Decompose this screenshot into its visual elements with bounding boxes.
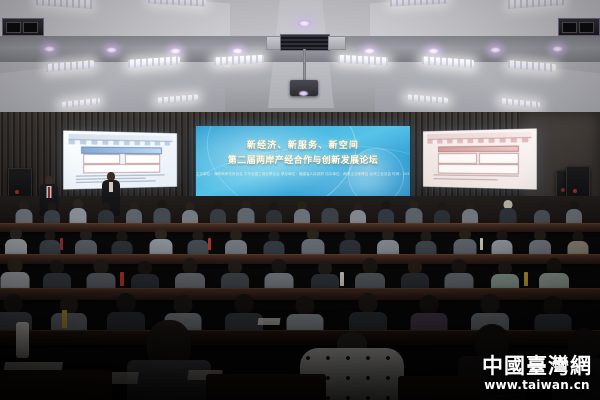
audience-person [154, 200, 170, 224]
seat-back [398, 376, 482, 400]
slide-toolbar [427, 138, 532, 144]
ceiling-light-fixture [214, 55, 264, 66]
slide-box [83, 154, 120, 164]
slide-box [438, 153, 477, 164]
paper-document [258, 318, 281, 325]
downlight [490, 47, 501, 53]
water-bottle [480, 238, 483, 250]
wall-av-unit-right [558, 18, 600, 36]
downlight [44, 46, 55, 52]
water-bottle [340, 272, 344, 286]
ceiling-projector [290, 80, 318, 96]
slide-toolbar [68, 140, 173, 146]
audience-person [44, 202, 59, 224]
slide-box [479, 153, 519, 164]
water-bottle [208, 238, 211, 250]
audience-person [566, 201, 581, 224]
banner-title: 新经济、新服务、新空间 [196, 138, 410, 151]
audience-person [350, 202, 365, 224]
ceiling [0, 0, 600, 120]
downlight [106, 47, 117, 53]
audience-person [378, 201, 393, 224]
downlight [428, 48, 439, 54]
seat-back [206, 374, 326, 400]
audience-person [182, 202, 197, 224]
audience-person [16, 200, 32, 224]
audience-person [238, 200, 254, 224]
audience-person [98, 202, 113, 224]
audience-person [266, 202, 281, 224]
audience-person [210, 201, 225, 224]
water-bottle [60, 238, 63, 250]
audience-row-back [0, 196, 600, 226]
water-bottle [524, 272, 528, 286]
downlight [232, 48, 243, 54]
audience-person [406, 200, 422, 224]
ceiling-light-fixture [338, 55, 388, 66]
right-projection-screen [423, 128, 537, 189]
audience-person [70, 199, 86, 224]
air-vent-wing-right [328, 36, 346, 50]
audience-person [126, 201, 141, 224]
audience-person [500, 200, 516, 224]
banner-subtitle: 第二届两岸产经合作与创新发展论坛 [196, 153, 410, 166]
watermark: 中國臺灣網 www.taiwan.cn [482, 355, 592, 392]
slide-title-bar [81, 147, 162, 154]
audience-person-foreground [132, 320, 206, 400]
audience-person [462, 201, 477, 224]
slide-title-bar [438, 145, 519, 152]
audience-person [322, 200, 338, 224]
slide-line [433, 179, 497, 181]
audience-person [434, 202, 449, 224]
downlight [552, 46, 563, 52]
slide-box [438, 164, 519, 174]
slide-box [125, 154, 160, 164]
banner-notes: 主办单位：海峡两岸关系协会 中华全国工商业联合会 承办单位：福建省人民政府 协办… [196, 172, 410, 177]
water-bottle [120, 272, 124, 286]
audience-person [534, 202, 549, 224]
audience-person [294, 201, 309, 224]
downlight [170, 48, 181, 54]
wall-av-unit-left [2, 18, 44, 36]
slide-line [433, 175, 519, 177]
watermark-url: www.taiwan.cn [482, 378, 592, 392]
downlight [298, 20, 311, 27]
watermark-brand: 中國臺灣網 [482, 355, 592, 377]
water-bottle [16, 322, 29, 358]
downlight [364, 48, 375, 54]
projector-mount-pole [303, 49, 306, 83]
seat-back [0, 370, 112, 400]
conference-hall-photo: 新经济、新服务、新空间 第二届两岸产经合作与创新发展论坛 主办单位：海峡两岸关系… [0, 0, 600, 400]
